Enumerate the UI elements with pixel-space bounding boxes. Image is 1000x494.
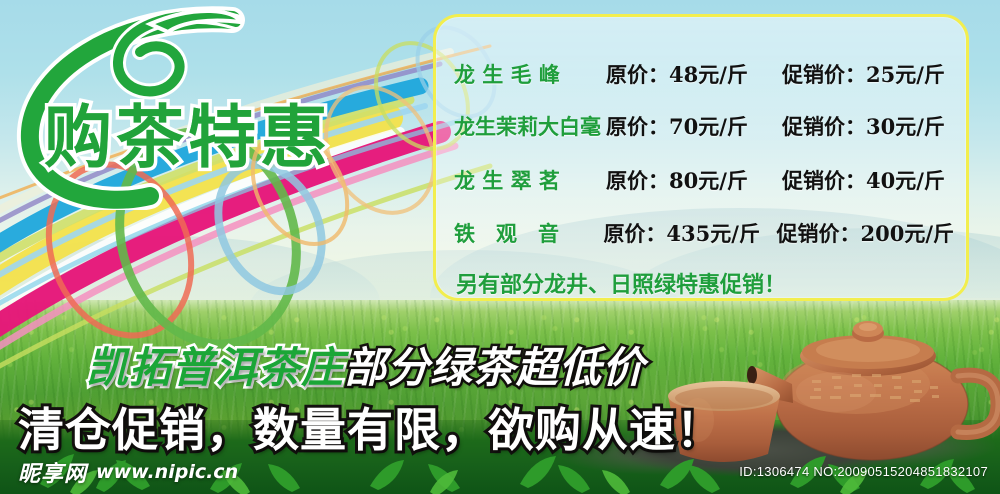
tea-name: 铁 观 音	[454, 218, 603, 248]
table-row: 龙 生 毛 峰 原价：48元/斤 促销价：25元/斤	[454, 57, 954, 91]
logo-block: 购茶特惠 购茶特惠	[0, 0, 430, 210]
footer-id-text: ID:1306474 NO:20090515204851832107	[739, 464, 988, 479]
page-title: 购茶特惠 购茶特惠	[44, 82, 332, 181]
shop-tagline: 部分绿茶超低价	[344, 343, 645, 392]
promo-price: 促销价：30元/斤	[782, 111, 945, 141]
shop-name: 凯拓普洱茶庄	[86, 343, 344, 392]
watermark: 昵享网 www.nipic.cn	[18, 458, 238, 486]
page-title-fill: 购茶特惠	[44, 82, 332, 181]
price-list-panel: 龙 生 毛 峰 原价：48元/斤 促销价：25元/斤 龙生茉莉大白毫 原价：70…	[433, 14, 969, 301]
original-price: 原价：435元/斤	[603, 218, 776, 248]
table-row: 龙 生 翠 茗 原价：80元/斤 促销价：40元/斤	[454, 163, 954, 197]
table-row: 铁 观 音 原价：435元/斤 促销价：200元/斤	[454, 216, 954, 250]
original-price: 原价：70元/斤	[606, 111, 782, 141]
tea-name: 龙 生 翠 茗	[454, 165, 606, 195]
shop-headline: 凯拓普洱茶庄部分绿茶超低价	[86, 334, 645, 388]
promo-note: 另有部分龙井、日照绿特惠促销！	[456, 267, 786, 299]
clearance-headline: 清仓促销，数量有限，欲购从速！	[18, 394, 723, 452]
promo-price: 促销价：25元/斤	[782, 59, 945, 89]
poster-canvas: 购茶特惠 购茶特惠 龙 生 毛 峰 原价：48元/斤 促销价：25元/斤 龙生茉…	[0, 0, 1000, 494]
promo-price: 促销价：40元/斤	[782, 165, 945, 195]
price-rows: 龙 生 毛 峰 原价：48元/斤 促销价：25元/斤 龙生茉莉大白毫 原价：70…	[436, 17, 966, 298]
table-row: 龙生茉莉大白毫 原价：70元/斤 促销价：30元/斤	[454, 109, 954, 143]
tea-name: 龙 生 毛 峰	[454, 59, 606, 89]
original-price: 原价：80元/斤	[606, 165, 782, 195]
tea-name: 龙生茉莉大白毫	[454, 111, 606, 141]
watermark-url: www.nipic.cn	[96, 461, 238, 483]
original-price: 原价：48元/斤	[606, 59, 782, 89]
promo-price: 促销价：200元/斤	[776, 218, 954, 248]
watermark-site-name: 昵享网	[18, 456, 87, 488]
